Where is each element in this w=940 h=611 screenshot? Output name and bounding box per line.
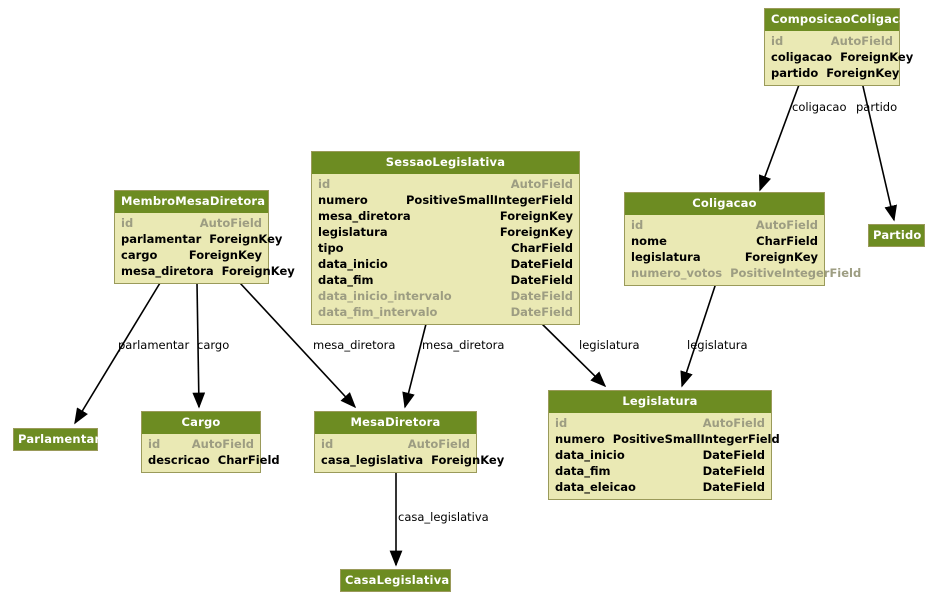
field-row: data_eleicaoDateField bbox=[555, 479, 765, 495]
field-type: PositiveSmallIntegerField bbox=[613, 431, 780, 447]
field-type: DateField bbox=[703, 479, 765, 495]
field-name: legislatura bbox=[631, 249, 709, 265]
model-title-cargo: Cargo bbox=[142, 412, 260, 434]
field-name: coligacao bbox=[771, 49, 840, 65]
field-name: legislatura bbox=[318, 224, 396, 240]
model-fields-composicao_coligacao: idAutoFieldcoligacaoForeignKeypartidoFor… bbox=[765, 31, 899, 85]
field-row: data_fimDateField bbox=[318, 272, 573, 288]
field-name: nome bbox=[631, 233, 675, 249]
edge-partido-label: partido bbox=[856, 100, 897, 114]
model-fields-legislatura: idAutoFieldnumeroPositiveSmallIntegerFie… bbox=[549, 413, 771, 499]
field-row: casa_legislativaForeignKey bbox=[321, 452, 470, 468]
field-name: id bbox=[121, 215, 141, 231]
model-box-partido[interactable]: Partido bbox=[868, 224, 925, 247]
field-name: numero bbox=[318, 192, 376, 208]
edge-mesa-diretora-b-label: mesa_diretora bbox=[422, 338, 504, 352]
field-row: legislaturaForeignKey bbox=[318, 224, 573, 240]
field-type: AutoField bbox=[200, 215, 262, 231]
field-row: data_inicioDateField bbox=[555, 447, 765, 463]
field-row: cargoForeignKey bbox=[121, 247, 262, 263]
model-title-parlamentar: Parlamentar bbox=[14, 429, 97, 450]
field-type: PositiveSmallIntegerField bbox=[406, 192, 573, 208]
field-type: DateField bbox=[511, 272, 573, 288]
field-row: idAutoField bbox=[631, 217, 818, 233]
field-type: ForeignKey bbox=[431, 452, 504, 468]
field-name: mesa_diretora bbox=[121, 263, 222, 279]
field-type: AutoField bbox=[703, 415, 765, 431]
field-name: data_inicio_intervalo bbox=[318, 288, 460, 304]
edge-casa-legislativa-label: casa_legislativa bbox=[398, 510, 489, 524]
field-type: PositiveIntegerField bbox=[730, 265, 861, 281]
edge-coligacao-label: coligacao bbox=[792, 100, 847, 114]
field-type: AutoField bbox=[831, 33, 893, 49]
field-type: DateField bbox=[511, 256, 573, 272]
field-name: data_fim_intervalo bbox=[318, 304, 445, 320]
field-name: casa_legislativa bbox=[321, 452, 431, 468]
field-name: id bbox=[555, 415, 575, 431]
field-name: partido bbox=[771, 65, 826, 81]
model-title-membro_mesa_diretora: MembroMesaDiretora bbox=[115, 191, 268, 213]
field-row: partidoForeignKey bbox=[771, 65, 893, 81]
field-name: data_inicio bbox=[555, 447, 633, 463]
field-row: parlamentarForeignKey bbox=[121, 231, 262, 247]
field-name: parlamentar bbox=[121, 231, 209, 247]
field-name: id bbox=[771, 33, 791, 49]
field-row: idAutoField bbox=[121, 215, 262, 231]
edge-legislatura-a-label: legislatura bbox=[579, 338, 640, 352]
field-type: CharField bbox=[511, 240, 573, 256]
field-row: idAutoField bbox=[771, 33, 893, 49]
field-name: numero bbox=[555, 431, 613, 447]
model-title-sessao_legislativa: SessaoLegislativa bbox=[312, 152, 579, 174]
field-type: ForeignKey bbox=[826, 65, 899, 81]
field-type: CharField bbox=[756, 233, 818, 249]
field-name: tipo bbox=[318, 240, 352, 256]
model-title-legislatura: Legislatura bbox=[549, 391, 771, 413]
model-box-coligacao[interactable]: ColigacaoidAutoFieldnomeCharFieldlegisla… bbox=[624, 192, 825, 286]
model-fields-sessao_legislativa: idAutoFieldnumeroPositiveSmallIntegerFie… bbox=[312, 174, 579, 324]
model-box-sessao_legislativa[interactable]: SessaoLegislativaidAutoFieldnumeroPositi… bbox=[311, 151, 580, 325]
field-row: idAutoField bbox=[321, 436, 470, 452]
field-name: id bbox=[318, 176, 338, 192]
field-name: id bbox=[631, 217, 651, 233]
field-name: data_eleicao bbox=[555, 479, 644, 495]
model-title-composicao_coligacao: ComposicaoColigacao bbox=[765, 9, 899, 31]
field-name: data_inicio bbox=[318, 256, 396, 272]
field-row: data_fimDateField bbox=[555, 463, 765, 479]
field-type: ForeignKey bbox=[189, 247, 262, 263]
model-title-partido: Partido bbox=[869, 225, 924, 246]
field-row: data_inicioDateField bbox=[318, 256, 573, 272]
model-title-coligacao: Coligacao bbox=[625, 193, 824, 215]
edge-mesa-diretora-b bbox=[405, 320, 427, 407]
field-row: descricaoCharField bbox=[148, 452, 254, 468]
er-diagram-canvas: ComposicaoColigacaoidAutoFieldcoligacaoF… bbox=[0, 0, 940, 611]
field-row: tipoCharField bbox=[318, 240, 573, 256]
model-fields-cargo: idAutoFielddescricaoCharField bbox=[142, 434, 260, 472]
field-type: DateField bbox=[511, 304, 573, 320]
field-type: ForeignKey bbox=[500, 224, 573, 240]
field-type: DateField bbox=[703, 447, 765, 463]
model-fields-coligacao: idAutoFieldnomeCharFieldlegislaturaForei… bbox=[625, 215, 824, 285]
field-row: idAutoField bbox=[148, 436, 254, 452]
field-type: DateField bbox=[511, 288, 573, 304]
field-row: idAutoField bbox=[555, 415, 765, 431]
field-row: mesa_diretoraForeignKey bbox=[318, 208, 573, 224]
field-row: numero_votosPositiveIntegerField bbox=[631, 265, 818, 281]
field-name: data_fim bbox=[318, 272, 382, 288]
edge-parlamentar-label: parlamentar bbox=[118, 338, 189, 352]
field-name: id bbox=[148, 436, 168, 452]
field-row: data_fim_intervaloDateField bbox=[318, 304, 573, 320]
field-row: legislaturaForeignKey bbox=[631, 249, 818, 265]
edge-coligacao bbox=[760, 82, 800, 190]
edge-legislatura-a bbox=[538, 320, 605, 386]
field-row: numeroPositiveSmallIntegerField bbox=[318, 192, 573, 208]
field-name: cargo bbox=[121, 247, 165, 263]
field-row: numeroPositiveSmallIntegerField bbox=[555, 431, 765, 447]
edge-legislatura-b bbox=[682, 283, 716, 386]
edge-mesa-diretora-a-label: mesa_diretora bbox=[313, 338, 395, 352]
model-box-cargo[interactable]: CargoidAutoFielddescricaoCharField bbox=[141, 411, 261, 473]
field-type: DateField bbox=[703, 463, 765, 479]
field-name: data_fim bbox=[555, 463, 619, 479]
field-name: numero_votos bbox=[631, 265, 730, 281]
field-row: coligacaoForeignKey bbox=[771, 49, 893, 65]
field-type: AutoField bbox=[192, 436, 254, 452]
model-box-composicao_coligacao[interactable]: ComposicaoColigacaoidAutoFieldcoligacaoF… bbox=[764, 8, 900, 86]
field-row: mesa_diretoraForeignKey bbox=[121, 263, 262, 279]
field-type: AutoField bbox=[511, 176, 573, 192]
model-fields-membro_mesa_diretora: idAutoFieldparlamentarForeignKeycargoFor… bbox=[115, 213, 268, 283]
field-name: mesa_diretora bbox=[318, 208, 419, 224]
field-name: id bbox=[321, 436, 341, 452]
field-row: nomeCharField bbox=[631, 233, 818, 249]
field-type: ForeignKey bbox=[840, 49, 913, 65]
field-row: data_inicio_intervaloDateField bbox=[318, 288, 573, 304]
field-type: ForeignKey bbox=[500, 208, 573, 224]
field-type: ForeignKey bbox=[209, 231, 282, 247]
field-type: AutoField bbox=[756, 217, 818, 233]
edge-parlamentar bbox=[75, 283, 160, 423]
edge-legislatura-b-label: legislatura bbox=[687, 338, 748, 352]
model-fields-mesa_diretora: idAutoFieldcasa_legislativaForeignKey bbox=[315, 434, 476, 472]
field-row: idAutoField bbox=[318, 176, 573, 192]
field-name: descricao bbox=[148, 452, 218, 468]
model-box-parlamentar[interactable]: Parlamentar bbox=[13, 428, 98, 451]
model-box-mesa_diretora[interactable]: MesaDiretoraidAutoFieldcasa_legislativaF… bbox=[314, 411, 477, 473]
model-title-mesa_diretora: MesaDiretora bbox=[315, 412, 476, 434]
field-type: CharField bbox=[218, 452, 280, 468]
field-type: ForeignKey bbox=[745, 249, 818, 265]
edge-cargo-label: cargo bbox=[197, 338, 229, 352]
model-box-casa_legislativa[interactable]: CasaLegislativa bbox=[340, 569, 451, 592]
model-box-legislatura[interactable]: LegislaturaidAutoFieldnumeroPositiveSmal… bbox=[548, 390, 772, 500]
field-type: AutoField bbox=[408, 436, 470, 452]
model-title-casa_legislativa: CasaLegislativa bbox=[341, 570, 450, 591]
field-type: ForeignKey bbox=[222, 263, 295, 279]
model-box-membro_mesa_diretora[interactable]: MembroMesaDiretoraidAutoFieldparlamentar… bbox=[114, 190, 269, 284]
